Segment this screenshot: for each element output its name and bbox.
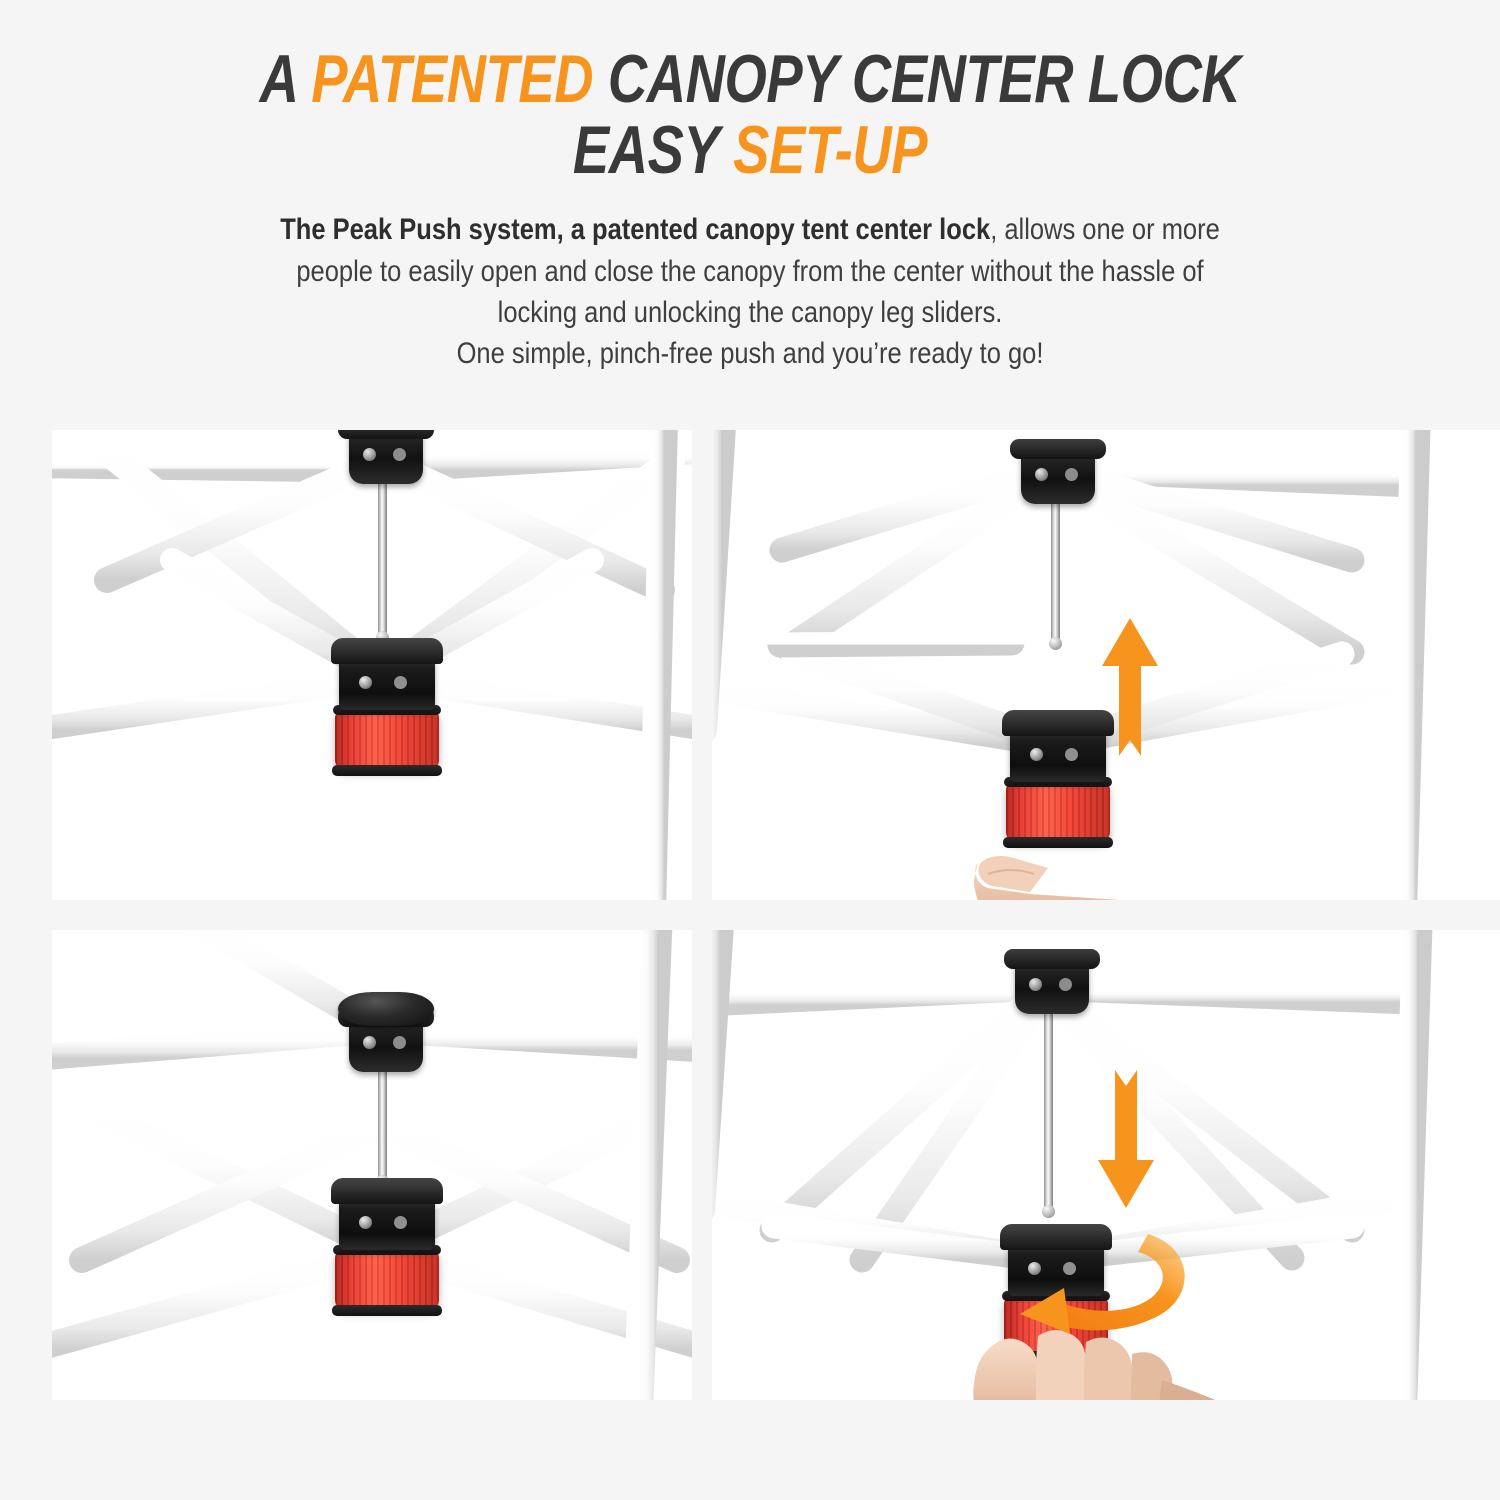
arrow-up-icon <box>1098 616 1162 768</box>
body-line-1: The Peak Push system, a patented canopy … <box>113 209 1388 250</box>
body-line-1-bold: The Peak Push system, a patented canopy … <box>280 213 990 246</box>
panel-bottom-right <box>712 930 1500 1400</box>
body-line-2: people to easily open and close the cano… <box>113 251 1388 292</box>
peak-hub-top-right <box>1021 442 1095 504</box>
panel-bottom-left <box>52 930 692 1400</box>
body-line-1-rest: , allows one or more <box>990 213 1220 246</box>
push-rod-top-left <box>378 476 387 636</box>
peak-hub-top-left <box>349 430 423 484</box>
rotate-arrow-icon <box>998 1230 1198 1350</box>
panel-top-right <box>712 430 1500 900</box>
title-text-a: A <box>260 41 312 117</box>
panel-grid <box>0 430 1500 1460</box>
peak-cap-bottom-left <box>338 992 434 1026</box>
title-highlight-setup: SET-UP <box>733 112 927 188</box>
panel-top-left <box>52 430 692 900</box>
arrow-down-icon <box>1094 1058 1158 1210</box>
push-rod-bottom-right <box>1044 1010 1053 1210</box>
body-line-4: One simple, pinch-free push and you’re r… <box>113 333 1388 374</box>
title-text-c: EASY <box>573 112 733 188</box>
body-line-3: locking and unlocking the canopy leg sli… <box>113 292 1388 333</box>
header: A PATENTED CANOPY CENTER LOCK EASY SET-U… <box>0 0 1500 375</box>
title-line-2: EASY SET-UP <box>150 117 1350 184</box>
slider-hub-top-right <box>1010 724 1106 782</box>
center-lock-bottom-left <box>335 1250 439 1310</box>
slider-hub-top-left <box>339 652 435 710</box>
title-highlight-patented: PATENTED <box>311 41 593 117</box>
title-line-1: A PATENTED CANOPY CENTER LOCK <box>260 41 1241 117</box>
slider-hub-bottom-left <box>339 1192 435 1250</box>
title-text-b: CANOPY CENTER LOCK <box>593 41 1240 117</box>
infographic-page: A PATENTED CANOPY CENTER LOCK EASY SET-U… <box>0 0 1500 1500</box>
center-lock-top-left <box>335 710 439 770</box>
hand-supporting <box>970 818 1270 900</box>
push-rod-top-right <box>1051 494 1060 642</box>
body-copy: The Peak Push system, a patented canopy … <box>113 209 1388 375</box>
peak-hub-bottom-right <box>1015 952 1089 1014</box>
page-title: A PATENTED CANOPY CENTER LOCK EASY SET-U… <box>150 46 1350 183</box>
push-rod-bottom-left <box>378 1068 387 1180</box>
